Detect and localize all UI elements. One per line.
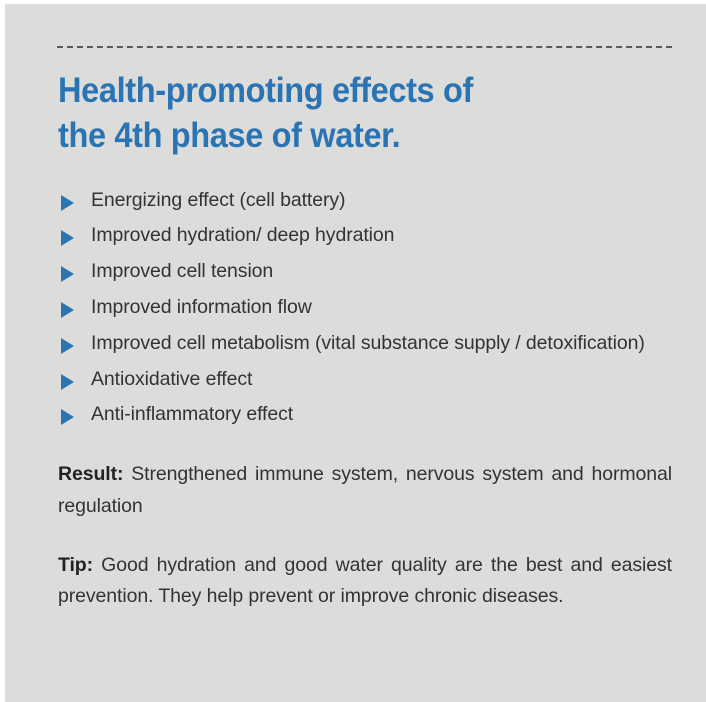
tip-paragraph: Tip: Good hydration and good water quali…: [58, 550, 672, 614]
result-text: Strengthened immune system, nervous syst…: [58, 463, 672, 517]
list-item: Improved hydration/ deep hydration: [57, 220, 672, 252]
list-item-label: Improved hydration/ deep hydration: [91, 224, 394, 246]
page-root: Health-promoting effects of the 4th phas…: [0, 0, 706, 702]
triangle-right-icon: [61, 266, 74, 282]
triangle-right-icon: [61, 374, 74, 390]
list-item-label: Anti-inflammatory effect: [91, 403, 293, 425]
list-item: Energizing effect (cell battery): [57, 185, 672, 217]
triangle-right-icon: [61, 195, 74, 211]
list-item-label: Improved cell metabolism (vital substanc…: [91, 332, 645, 354]
triangle-right-icon: [61, 409, 74, 425]
list-item: Improved information flow: [57, 292, 672, 324]
list-item-label: Improved cell tension: [91, 260, 273, 282]
list-item-label: Antioxidative effect: [91, 368, 252, 390]
list-item: Anti-inflammatory effect: [57, 399, 672, 431]
page-title: Health-promoting effects of the 4th phas…: [58, 69, 629, 159]
list-item-label: Improved information flow: [91, 296, 312, 318]
benefits-list: Energizing effect (cell battery) Improve…: [57, 185, 672, 431]
result-paragraph: Result: Strengthened immune system, nerv…: [58, 459, 672, 523]
list-item: Improved cell metabolism (vital substanc…: [57, 328, 672, 360]
triangle-right-icon: [61, 302, 74, 318]
top-dashed-divider: [57, 46, 672, 48]
result-label: Result:: [58, 463, 123, 485]
list-item: Antioxidative effect: [57, 364, 672, 396]
tip-label: Tip:: [58, 554, 93, 576]
content-column: Health-promoting effects of the 4th phas…: [57, 46, 672, 613]
tip-text: Good hydration and good water quality ar…: [58, 554, 672, 608]
triangle-right-icon: [61, 338, 74, 354]
triangle-right-icon: [61, 230, 74, 246]
content-panel: Health-promoting effects of the 4th phas…: [5, 4, 706, 702]
list-item: Improved cell tension: [57, 256, 672, 288]
list-item-label: Energizing effect (cell battery): [91, 189, 345, 211]
